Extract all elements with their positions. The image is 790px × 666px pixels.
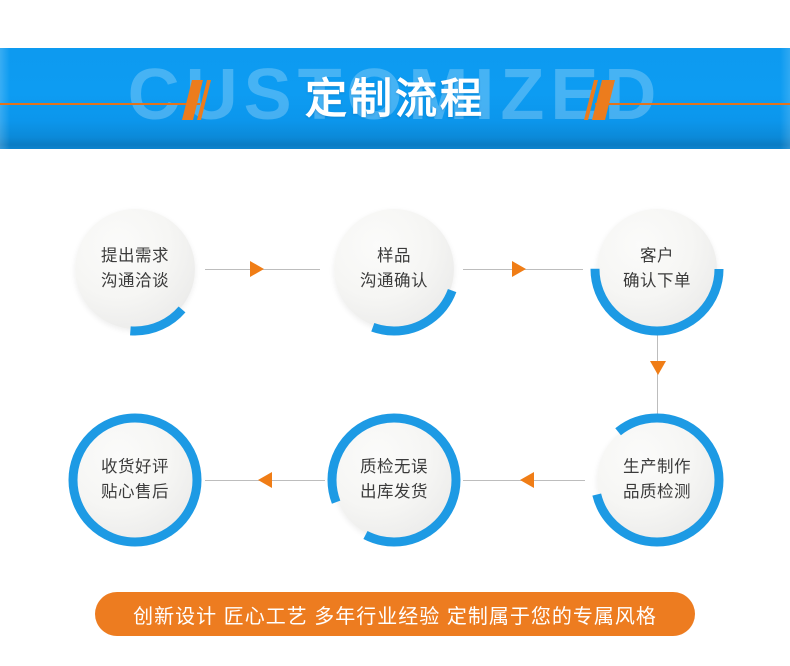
flow-step-5-line1: 质检无误 [360,455,428,480]
connector-1-2-right-arrow-icon [250,261,264,277]
process-flow-diagram: 提出需求 沟通洽谈 样品 沟通确认 客户 确认下单 生产制作 品 [0,149,790,589]
flow-step-5[interactable]: 质检无误 出库发货 [326,412,462,548]
flow-step-6-line2: 贴心售后 [101,480,169,505]
flow-step-3-line2: 确认下单 [623,269,691,294]
flow-step-1-line1: 提出需求 [101,244,169,269]
flow-step-3-line1: 客户 [640,244,674,269]
flow-step-1[interactable]: 提出需求 沟通洽谈 [67,201,203,337]
flow-step-6-line1: 收货好评 [101,455,169,480]
flow-step-4-line2: 品质检测 [623,480,691,505]
flow-step-3[interactable]: 客户 确认下单 [589,201,725,337]
flow-step-3-label: 客户 确认下单 [589,201,725,337]
header-banner: CUSTOMIZED 定制流程 [0,48,790,149]
flow-step-5-line2: 出库发货 [360,480,428,505]
flow-step-2-line2: 沟通确认 [360,269,428,294]
connector-4-5-left-arrow-icon [520,472,534,488]
flow-step-6[interactable]: 收货好评 贴心售后 [67,412,203,548]
connector-2-3-right-arrow-icon [512,261,526,277]
flow-step-4[interactable]: 生产制作 品质检测 [589,412,725,548]
flow-step-2-label: 样品 沟通确认 [326,201,462,337]
flow-step-1-label: 提出需求 沟通洽谈 [67,201,203,337]
flow-step-4-line1: 生产制作 [623,455,691,480]
flow-step-1-line2: 沟通洽谈 [101,269,169,294]
flow-step-2-line1: 样品 [377,244,411,269]
flow-step-4-label: 生产制作 品质检测 [589,412,725,548]
connector-3-4-down-arrow-icon [650,361,666,375]
connector-5-6-left-arrow-icon [258,472,272,488]
footer-slogan-banner: 创新设计 匠心工艺 多年行业经验 定制属于您的专属风格 [95,592,695,636]
flow-step-6-label: 收货好评 贴心售后 [67,412,203,548]
page-title: 定制流程 [0,73,790,125]
flow-step-2[interactable]: 样品 沟通确认 [326,201,462,337]
footer-slogan-text: 创新设计 匠心工艺 多年行业经验 定制属于您的专属风格 [133,600,657,629]
flow-step-5-label: 质检无误 出库发货 [326,412,462,548]
